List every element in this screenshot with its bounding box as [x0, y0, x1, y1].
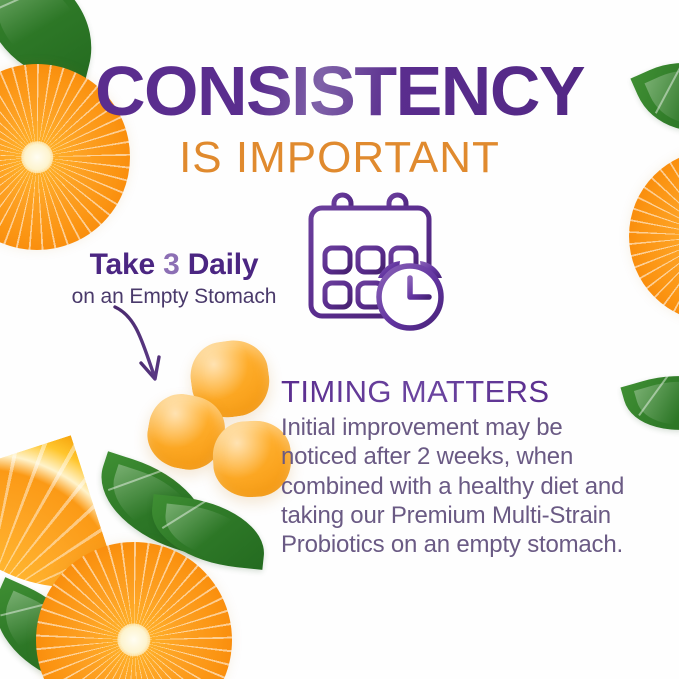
take-daily-count: 3	[163, 248, 180, 281]
leaf-vein	[0, 593, 84, 615]
calendar-clock-icon	[303, 192, 458, 332]
leaf-bottom-left-icon	[0, 577, 104, 679]
orange-wedge-bottom-left-image	[0, 435, 118, 627]
timing-matters-group: TIMING MATTERS Initial improvement may b…	[281, 374, 641, 559]
take-daily-suffix: Daily	[180, 248, 259, 281]
timing-matters-heading: TIMING MATTERS	[281, 374, 641, 410]
orange-slice-bottom-left-image	[36, 542, 232, 679]
page-title: CONSISTENCY	[0, 56, 679, 126]
take-daily-group: Take 3 Daily on an Empty Stomach	[44, 248, 304, 308]
headline-group: CONSISTENCY IS IMPORTANT	[0, 56, 679, 180]
infographic-canvas: CONSISTENCY IS IMPORTANT Take 3 Daily on…	[0, 0, 679, 679]
take-daily-heading: Take 3 Daily	[44, 248, 304, 281]
curved-arrow-icon	[97, 303, 207, 395]
timing-matters-body: Initial improvement may be noticed after…	[281, 413, 641, 559]
gummy-left-image	[142, 389, 230, 475]
take-daily-prefix: Take	[90, 248, 164, 281]
leaf-bottom-center-icon	[86, 451, 222, 557]
leaf-vein	[0, 0, 79, 12]
leaf-vein	[639, 347, 679, 415]
page-subtitle: IS IMPORTANT	[0, 136, 679, 180]
leaf-vein	[161, 478, 240, 528]
leaf-bottom-center-second-icon	[147, 494, 269, 570]
leaf-vein	[108, 456, 199, 490]
alarm-clock-icon	[378, 261, 442, 328]
